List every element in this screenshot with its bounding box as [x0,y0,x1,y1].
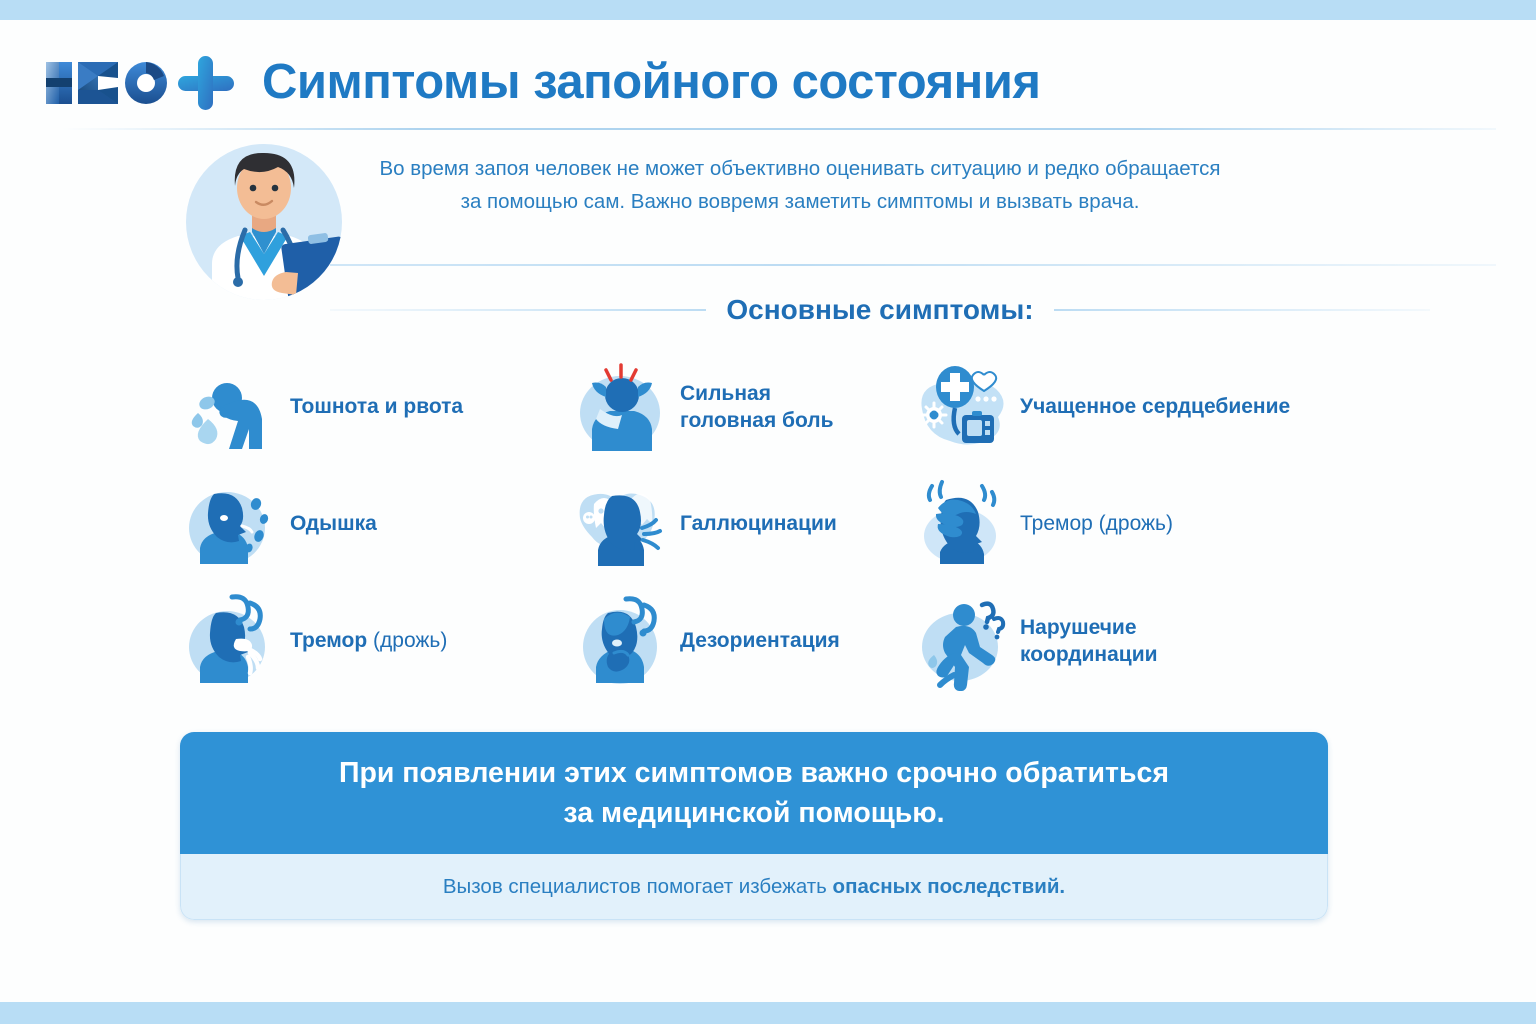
hallucination-ghost-icon [570,474,670,574]
symptom-item-tremor-head[interactable]: Тремор (дрожь) [910,465,1360,582]
banner-main-message: При появлении этих симптомов важно срочн… [180,732,1328,854]
symptom-item-tremor[interactable]: Тремор (дрожь) [180,582,570,699]
section-rule-right [1054,309,1430,311]
page-title: Симптомы запойного состояния [262,54,1040,110]
infographic-page: Симптомы запойного состояния [0,0,1536,1024]
symptom-row: Тошнота и рвота [180,348,1360,465]
symptom-label: Сильная головная боль [680,380,834,434]
banner-sub-plain: Вызов специалистов помогает избежать [443,875,833,898]
blood-pressure-icon [910,357,1010,457]
intro-text: Во время запоя человек не может объектив… [320,152,1280,218]
section-heading: Основные симптомы: [330,289,1430,331]
banner-sub-message: Вызов специалистов помогает избежать опа… [180,854,1328,920]
intro-line-1: Во время запоя человек не может объектив… [320,152,1280,185]
call-to-action-banner: При появлении этих симптомов важно срочн… [180,732,1328,920]
symptom-label: Тремор (дрожь) [290,627,447,654]
symptom-item-dyspnea[interactable]: Одышка [180,465,570,582]
top-accent-bar [0,0,1536,20]
vomiting-icon [180,357,280,457]
header: Симптомы запойного состояния [0,20,1536,128]
coordination-icon [910,591,1010,691]
tremor-shaking-icon [180,591,280,691]
intro-divider [330,264,1496,266]
banner-sub-bold: опасных последствий. [833,875,1066,898]
symptom-label: Одышка [290,510,377,537]
symptom-item-nausea[interactable]: Тошнота и рвота [180,348,570,465]
symptom-item-disorientation[interactable]: Дезориентация [570,582,910,699]
headache-icon [570,357,670,457]
bottom-accent-bar [0,1002,1536,1024]
symptom-item-heartrate[interactable]: Учащенное сердцебиение [910,348,1360,465]
symptom-label: Галлюцинации [680,510,837,537]
symptom-label: Учащенное сердцебиение [1020,393,1290,420]
symptom-item-coordination[interactable]: Нарушечие координации [910,582,1360,699]
shortness-of-breath-icon [180,474,280,574]
neo-plus-logo [32,54,247,112]
header-divider [62,128,1496,130]
banner-line-1: При появлении этих симптомов важно срочн… [339,753,1169,793]
tremor-head-hands-icon [910,474,1010,574]
section-title: Основные симптомы: [726,294,1033,326]
symptom-label: Дезориентация [680,627,840,654]
symptom-label: Тошнота и рвота [290,393,463,420]
disorientation-icon [570,591,670,691]
symptom-label: Нарушечие координации [1020,614,1158,668]
banner-line-2: за медицинской помощью. [339,793,1169,833]
symptom-row: Одышка [180,465,1360,582]
symptom-row: Тремор (дрожь) [180,582,1360,699]
intro-line-2: за помощью сам. Важно вовремя заметить с… [320,185,1280,218]
symptom-item-hallucinations[interactable]: Галлюцинации [570,465,910,582]
symptom-label: Тремор (дрожь) [1020,510,1173,537]
symptoms-grid: Тошнота и рвота [180,348,1360,698]
symptom-item-headache[interactable]: Сильная головная боль [570,348,910,465]
section-rule-left [330,309,706,311]
